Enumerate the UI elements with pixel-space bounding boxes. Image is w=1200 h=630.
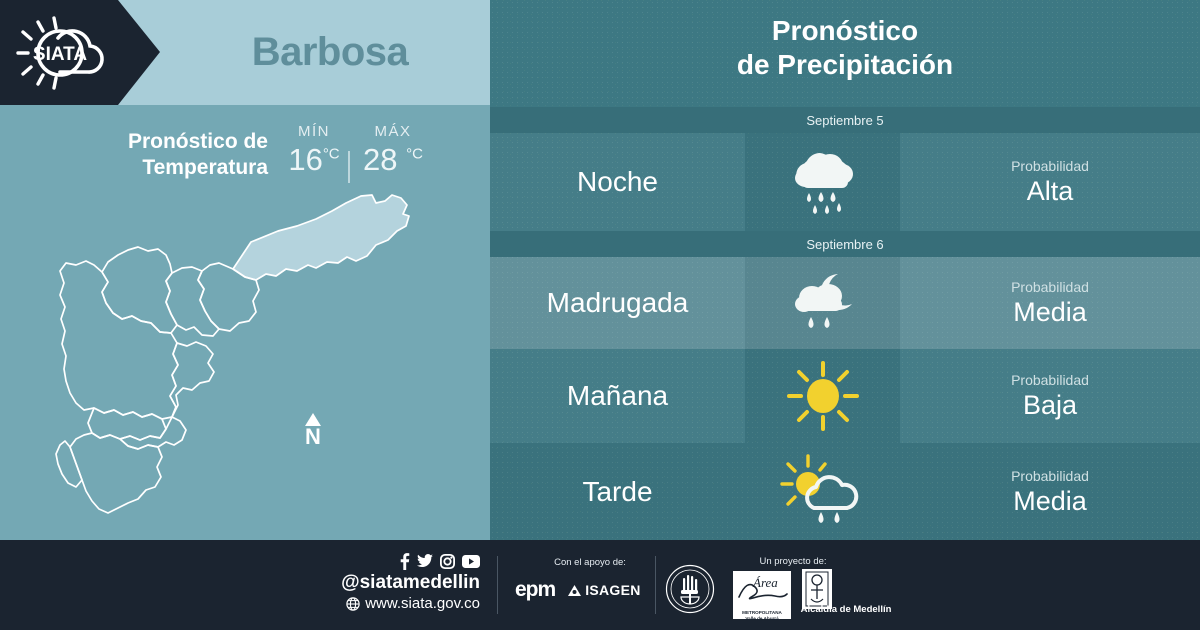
probability-cell-madrugada: Probabilidad Media: [900, 257, 1200, 349]
alcaldia-label: Alcaldía de Medellín: [786, 604, 906, 615]
aburra-valley-map[interactable]: N: [20, 183, 470, 533]
probability-label-madrugada: Probabilidad: [1011, 278, 1089, 296]
forecast-row-noche[interactable]: Noche: [490, 133, 1200, 231]
area-sublabel-line2: Valle de Aburrá: [733, 616, 791, 622]
precipitation-panel: Pronóstico de Precipitación Septiembre 5…: [490, 0, 1200, 540]
weather-icon-cell-tarde: [745, 443, 900, 540]
area-metropolitana-logo: Área METROPOLITANA Valle de Aburrá: [733, 571, 791, 619]
temperature-max-value: 28 °C: [352, 142, 434, 178]
siata-logo-text: SIATA: [33, 44, 87, 65]
north-indicator: N: [298, 413, 328, 448]
forecast-row-tarde[interactable]: Tarde: [490, 443, 1200, 540]
sun-icon: [785, 359, 861, 433]
footer: @siatamedellin www.siata.gov.co Con el a…: [0, 540, 1200, 630]
map-region-envigado: [170, 342, 214, 417]
temperature-max-unit: °C: [406, 146, 423, 163]
date-band-2: Septiembre 6: [490, 231, 1200, 257]
period-label-noche: Noche: [490, 133, 745, 231]
website-url: www.siata.gov.co: [365, 594, 480, 613]
probability-label-tarde: Probabilidad: [1011, 467, 1089, 485]
area-word: Área: [752, 575, 778, 590]
instagram-icon[interactable]: [440, 554, 455, 569]
udea-seal-icon: [665, 564, 715, 614]
temperature-min-number: 16: [288, 142, 322, 177]
precipitation-title-line2: de Precipitación: [737, 49, 953, 80]
map-region-itagui: [88, 408, 166, 440]
probability-label-noche: Probabilidad: [1011, 157, 1089, 175]
sun-cloud-icon: SIATA: [14, 14, 114, 92]
precipitation-title: Pronóstico de Precipitación: [490, 14, 1200, 82]
period-label-tarde: Tarde: [490, 443, 745, 540]
support-logos: epm ISAGEN: [515, 578, 665, 602]
infographic-root: SIATA Barbosa Pronóstico de Temperatura …: [0, 0, 1200, 630]
probability-cell-manana: Probabilidad Baja: [900, 349, 1200, 443]
area-signature-icon: Área: [733, 571, 791, 605]
map-region-la-estrella: [56, 441, 82, 487]
probability-value-tarde: Media: [1013, 485, 1087, 517]
alcaldia-crest: [802, 569, 832, 609]
left-header: SIATA Barbosa: [0, 0, 490, 105]
alcaldia-crest-icon: [802, 569, 832, 609]
probability-cell-noche: Probabilidad Alta: [900, 133, 1200, 231]
forecast-row-madrugada[interactable]: Madrugada Probabilidad Media: [490, 257, 1200, 349]
temperature-min-value: 16°C: [278, 142, 350, 178]
temperature-min-unit: °C: [323, 146, 340, 163]
period-label-madrugada: Madrugada: [490, 257, 745, 349]
probability-cell-tarde: Probabilidad Media: [900, 443, 1200, 540]
probability-value-noche: Alta: [1027, 175, 1074, 207]
support-caption: Con el apoyo de:: [510, 557, 670, 568]
map-svg: [20, 183, 470, 533]
epm-logo: epm: [515, 578, 555, 602]
weather-icon-cell-noche: [745, 133, 900, 231]
social-handle[interactable]: @siatamedellin: [300, 571, 480, 594]
map-region-sabaneta: [120, 417, 186, 449]
area-sublabel: METROPOLITANA Valle de Aburrá: [733, 610, 791, 622]
temperature-title-line2: Temperatura: [142, 156, 268, 179]
siata-logo-block[interactable]: SIATA: [0, 0, 160, 105]
temperature-min: MÍN 16°C: [278, 123, 350, 178]
website-row[interactable]: www.siata.gov.co: [300, 594, 480, 613]
weather-icon-cell-manana: [745, 349, 900, 443]
temperature-min-label: MÍN: [278, 123, 350, 140]
map-region-medellin: [60, 261, 178, 419]
temperature-panel: Pronóstico de Temperatura MÍN 16°C MÁX 2…: [0, 105, 490, 540]
map-region-caldas: [70, 433, 162, 513]
map-region-barbosa: [233, 195, 409, 280]
page-title: Barbosa: [170, 0, 490, 105]
period-label-manana: Mañana: [490, 349, 745, 443]
footer-divider-1: [497, 556, 498, 614]
udea-logo: [665, 564, 715, 614]
twitter-icon[interactable]: [417, 554, 433, 568]
temperature-max-label: MÁX: [352, 123, 434, 140]
precipitation-title-line1: Pronóstico: [772, 15, 918, 46]
isagen-mark-icon: [567, 584, 582, 597]
temperature-max-number: 28: [363, 142, 397, 177]
isagen-text: ISAGEN: [585, 582, 640, 598]
probability-value-madrugada: Media: [1013, 296, 1087, 328]
social-block: @siatamedellin www.siata.gov.co: [300, 552, 480, 613]
probability-label-manana: Probabilidad: [1011, 371, 1089, 389]
forecast-row-manana[interactable]: Mañana Probabili: [490, 349, 1200, 443]
weather-icon-cell-madrugada: [745, 257, 900, 349]
moon-cloud-rain-icon: [782, 268, 864, 338]
date-band-1: Septiembre 5: [490, 107, 1200, 133]
rain-cloud-icon: [782, 146, 864, 218]
left-panel: SIATA Barbosa Pronóstico de Temperatura …: [0, 0, 490, 540]
facebook-icon[interactable]: [399, 553, 410, 570]
social-icon-row: [300, 552, 480, 570]
temperature-title-line1: Pronóstico de: [128, 130, 268, 153]
map-region-copacabana: [166, 267, 219, 336]
north-label: N: [298, 426, 328, 448]
footer-divider-2: [655, 556, 656, 614]
project-caption: Un proyecto de:: [718, 556, 868, 567]
sun-cloud-rain-icon: [780, 454, 866, 530]
globe-icon: [346, 597, 360, 611]
probability-value-manana: Baja: [1023, 389, 1077, 421]
temperature-max: MÁX 28 °C: [352, 123, 434, 178]
temperature-title: Pronóstico de Temperatura: [48, 129, 268, 181]
isagen-logo: ISAGEN: [567, 582, 640, 598]
youtube-icon[interactable]: [462, 555, 480, 568]
siata-logo: SIATA: [14, 14, 114, 92]
